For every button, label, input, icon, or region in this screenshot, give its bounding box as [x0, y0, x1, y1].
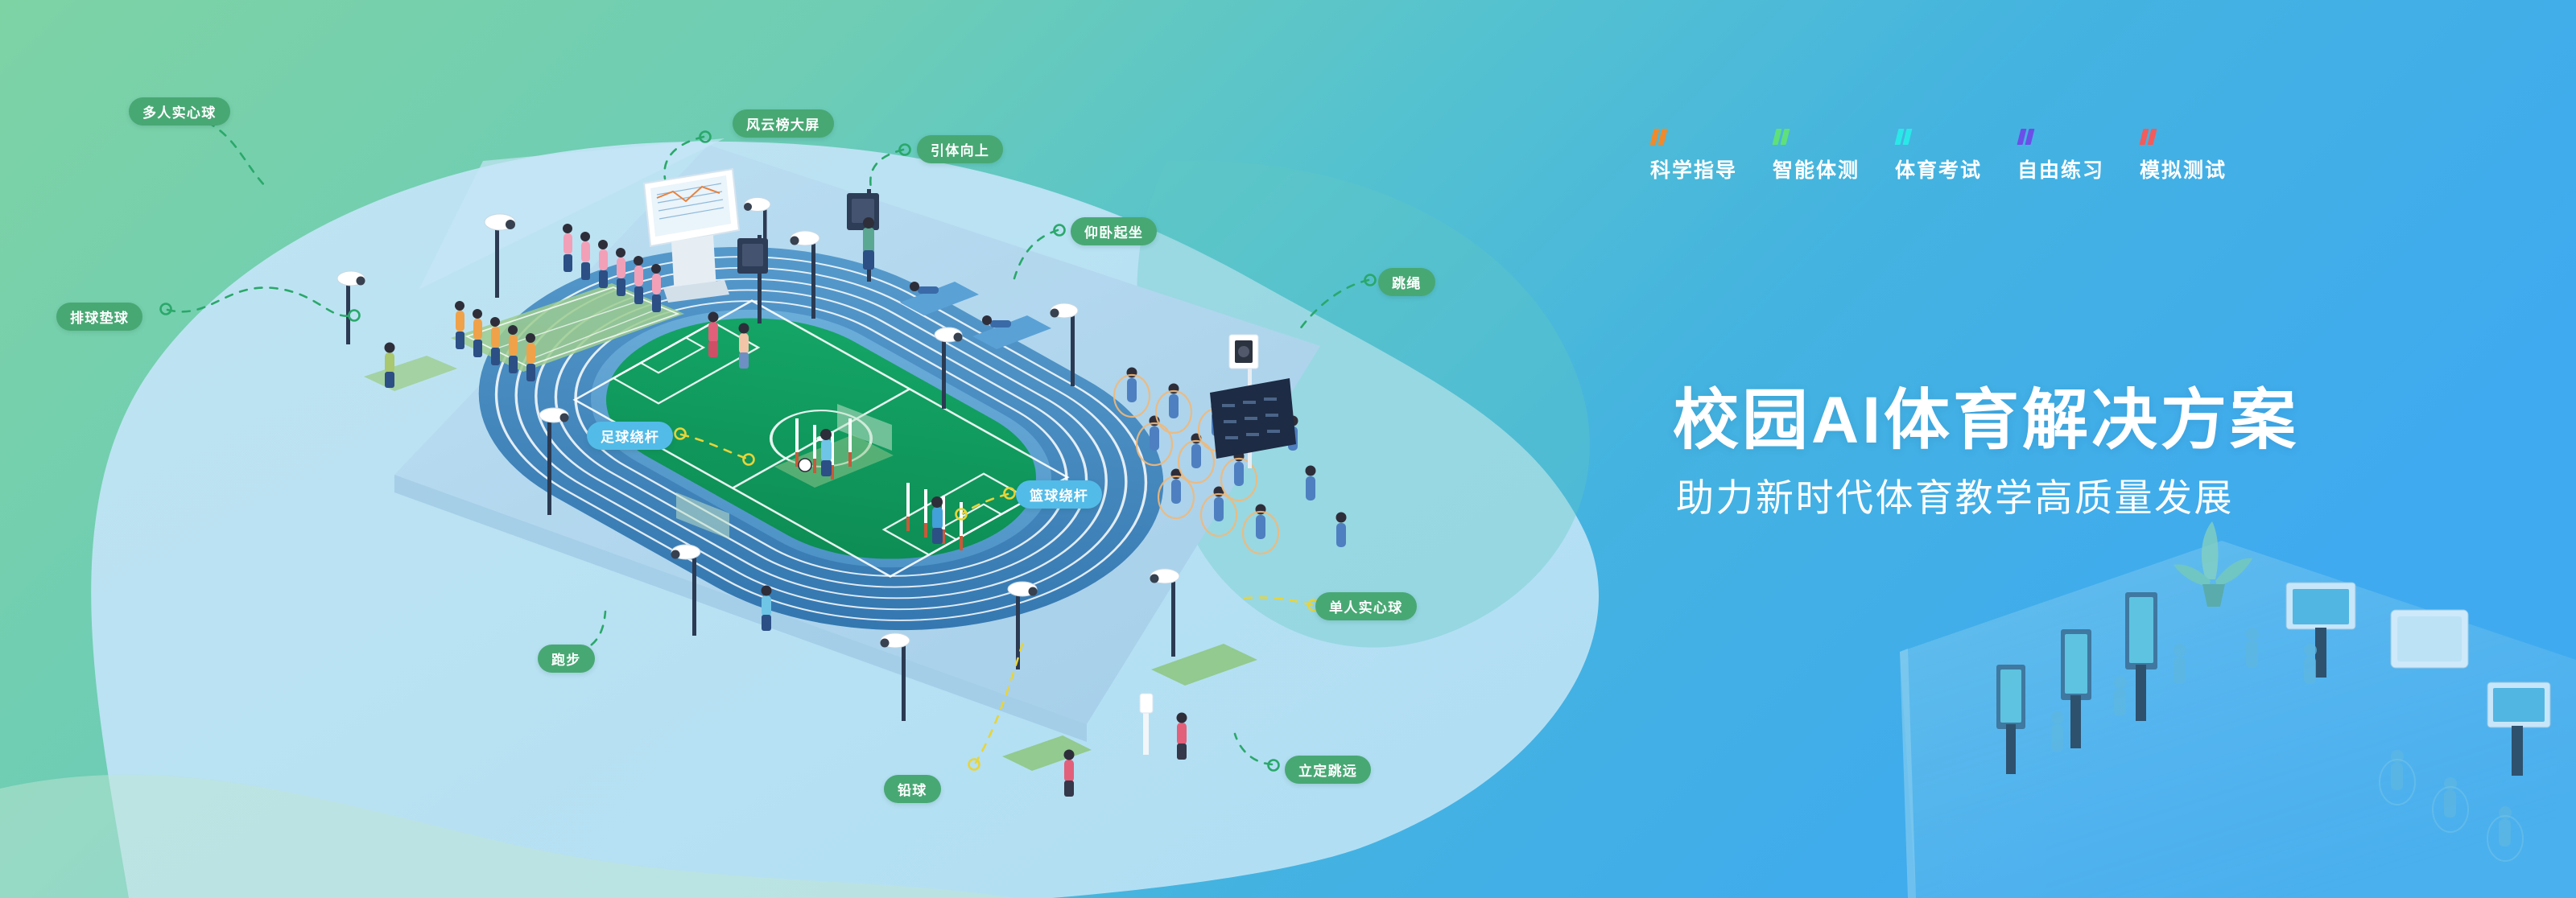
callout-pill-zuqiu-raogan[interactable]: 足球绕杆 [587, 422, 673, 450]
hero-text-panel: 科学指导智能体测体育考试自由练习模拟测试 [1650, 129, 2455, 183]
double-slash-icon [1774, 129, 1895, 146]
feature-tag-label: 科学指导 [1650, 154, 1773, 183]
callout-pill-danren-shixinqiu[interactable]: 单人实心球 [1315, 592, 1417, 620]
feature-tag-label: 智能体测 [1773, 154, 1895, 183]
hero-banner-stage: 多人实心球排球垫球风云榜大屏引体向上仰卧起坐跳绳足球绕杆篮球绕杆单人实心球跑步铅… [0, 0, 2576, 898]
double-slash-icon [1652, 129, 1773, 146]
page-subtitle: 助力新时代体育教学高质量发展 [1676, 467, 2234, 522]
feature-tag-1[interactable]: 智能体测 [1773, 129, 1895, 183]
feature-tag-0[interactable]: 科学指导 [1650, 129, 1773, 183]
feature-tag-2[interactable]: 体育考试 [1895, 129, 2017, 183]
callout-pill-qianqiu[interactable]: 铅球 [884, 775, 941, 803]
feature-tag-3[interactable]: 自由练习 [2017, 129, 2140, 183]
callout-pill-lanqiu-raogan[interactable]: 篮球绕杆 [1016, 480, 1102, 509]
callout-pill-yangwo-qizuo[interactable]: 仰卧起坐 [1071, 217, 1157, 245]
feature-tag-row: 科学指导智能体测体育考试自由练习模拟测试 [1650, 129, 2455, 183]
callout-pill-tiaosheng[interactable]: 跳绳 [1378, 268, 1435, 296]
double-slash-icon [2019, 129, 2140, 146]
callout-pill-duoren-shixinqiu[interactable]: 多人实心球 [129, 97, 230, 126]
feature-tag-label: 体育考试 [1895, 154, 2017, 183]
double-slash-icon [2141, 129, 2262, 146]
callout-pill-liding-tiaoyuan[interactable]: 立定跳远 [1285, 756, 1371, 784]
callout-pill-paiqiu-dianqiu[interactable]: 排球垫球 [56, 303, 142, 331]
feature-tag-4[interactable]: 模拟测试 [2140, 129, 2262, 183]
feature-tag-label: 模拟测试 [2140, 154, 2262, 183]
callout-pill-fengyunbang[interactable]: 风云榜大屏 [733, 109, 834, 138]
page-title: 校园AI体育解决方案 [1673, 366, 2299, 462]
callout-pill-paobu[interactable]: 跑步 [538, 645, 595, 673]
feature-tag-label: 自由练习 [2017, 154, 2140, 183]
double-slash-icon [1897, 129, 2017, 146]
callout-pill-yinti-xiangshang[interactable]: 引体向上 [917, 135, 1003, 163]
